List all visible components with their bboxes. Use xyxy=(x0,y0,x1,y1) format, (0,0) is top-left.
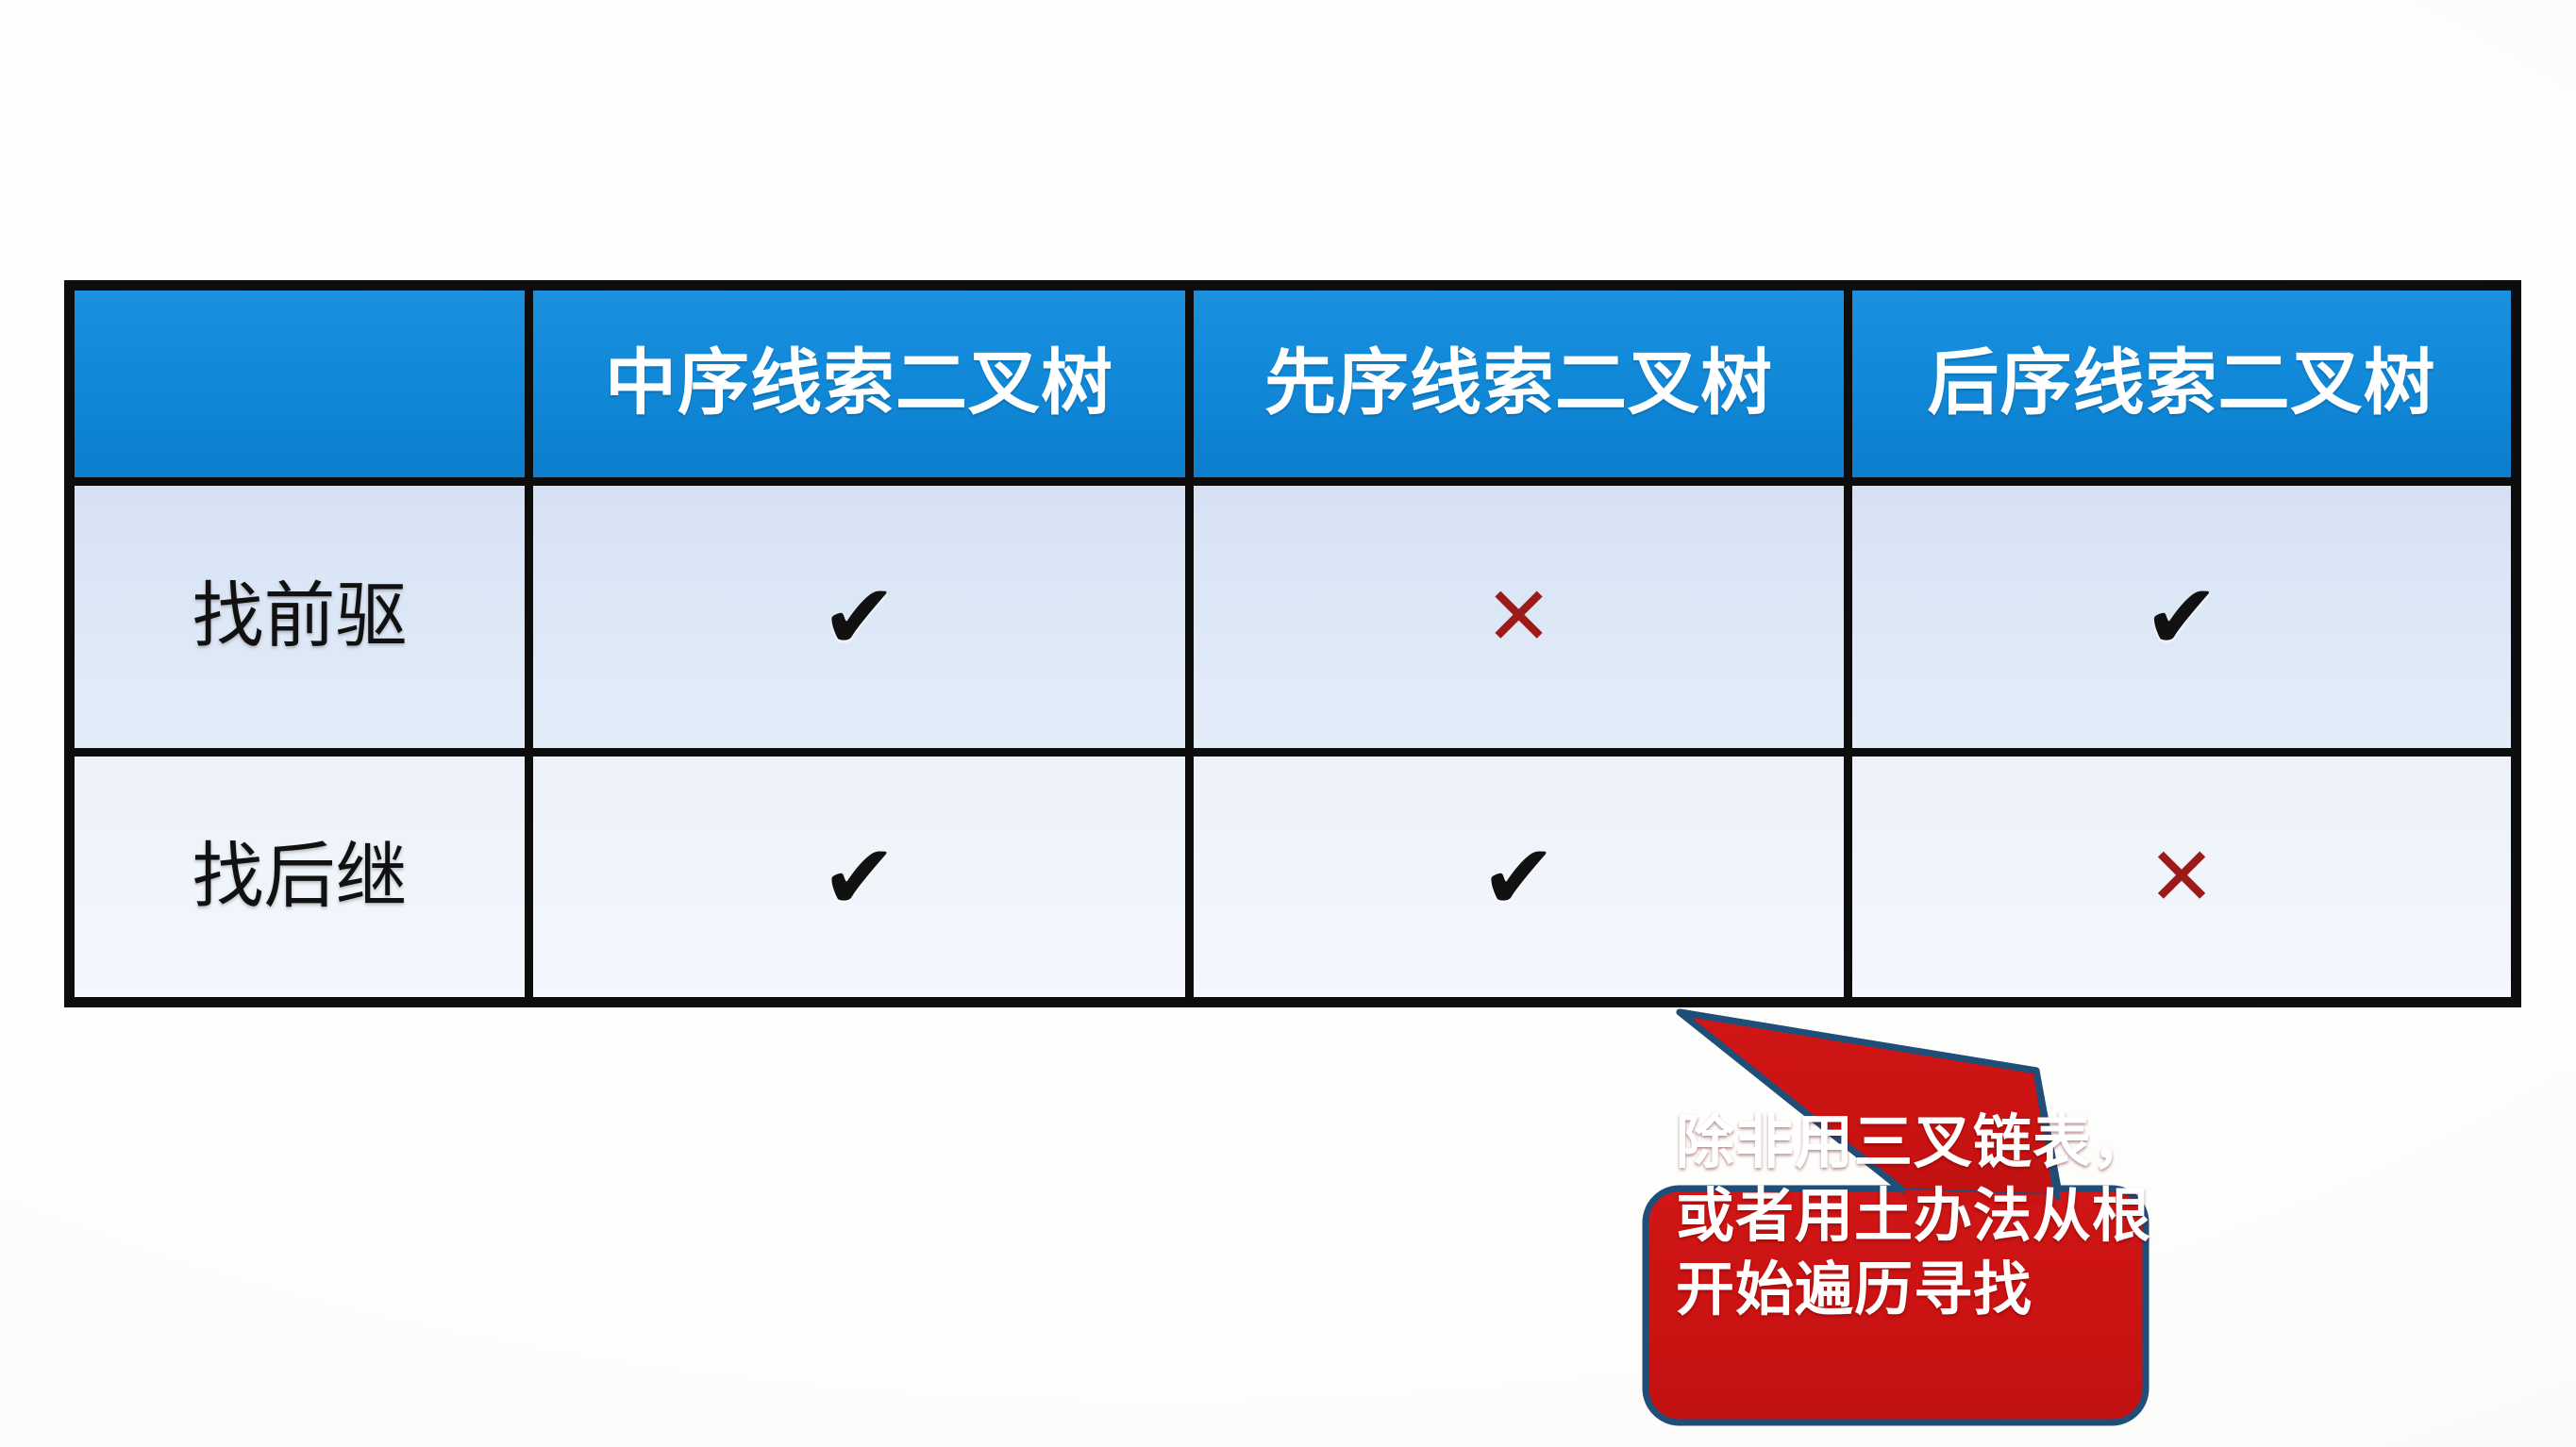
cell-find-successor-postorder: ✕ xyxy=(1844,757,2511,997)
check-icon: ✔ xyxy=(2144,572,2219,662)
comparison-table: 中序线索二叉树 先序线索二叉树 后序线索二叉树 找前驱 ✔ ✕ ✔ 找后继 ✔ xyxy=(64,280,2521,1007)
table-row: 找后继 ✔ ✔ ✕ xyxy=(75,748,2511,997)
row-header-find-successor: 找后继 xyxy=(75,757,525,997)
table-corner-cell xyxy=(75,291,525,477)
row-header-find-successor-label: 找后继 xyxy=(192,841,408,913)
callout-line-3: 开始遍历寻找 xyxy=(1676,1254,2119,1327)
callout-line-2: 或者用土办法从根 xyxy=(1676,1180,2119,1254)
cross-icon: ✕ xyxy=(2148,837,2216,918)
cell-find-predecessor-preorder: ✕ xyxy=(1185,486,1844,748)
cell-find-predecessor-inorder: ✔ xyxy=(525,486,1185,748)
check-icon: ✔ xyxy=(821,832,896,923)
column-header-preorder-label: 先序线索二叉树 xyxy=(1264,348,1773,420)
column-header-inorder-label: 中序线索二叉树 xyxy=(605,348,1113,420)
annotation-callout: 除非用三叉链表， 或者用土办法从根 开始遍历寻找 xyxy=(1621,995,2565,1439)
check-icon: ✔ xyxy=(821,572,896,662)
cell-find-successor-inorder: ✔ xyxy=(525,757,1185,997)
column-header-preorder: 先序线索二叉树 xyxy=(1185,291,1844,477)
callout-text: 除非用三叉链表， 或者用土办法从根 开始遍历寻找 xyxy=(1676,1106,2119,1327)
column-header-inorder: 中序线索二叉树 xyxy=(525,291,1185,477)
callout-line-1: 除非用三叉链表， xyxy=(1676,1106,2119,1180)
column-header-postorder-label: 后序线索二叉树 xyxy=(1928,348,2436,420)
table-header-row: 中序线索二叉树 先序线索二叉树 后序线索二叉树 xyxy=(75,291,2511,477)
table-row: 找前驱 ✔ ✕ ✔ xyxy=(75,477,2511,748)
column-header-postorder: 后序线索二叉树 xyxy=(1844,291,2511,477)
row-header-find-predecessor-label: 找前驱 xyxy=(192,581,408,653)
cell-find-predecessor-postorder: ✔ xyxy=(1844,486,2511,748)
cell-find-successor-preorder: ✔ xyxy=(1185,757,1844,997)
check-icon: ✔ xyxy=(1480,832,1556,923)
row-header-find-predecessor: 找前驱 xyxy=(75,486,525,748)
cross-icon: ✕ xyxy=(1484,576,1552,657)
